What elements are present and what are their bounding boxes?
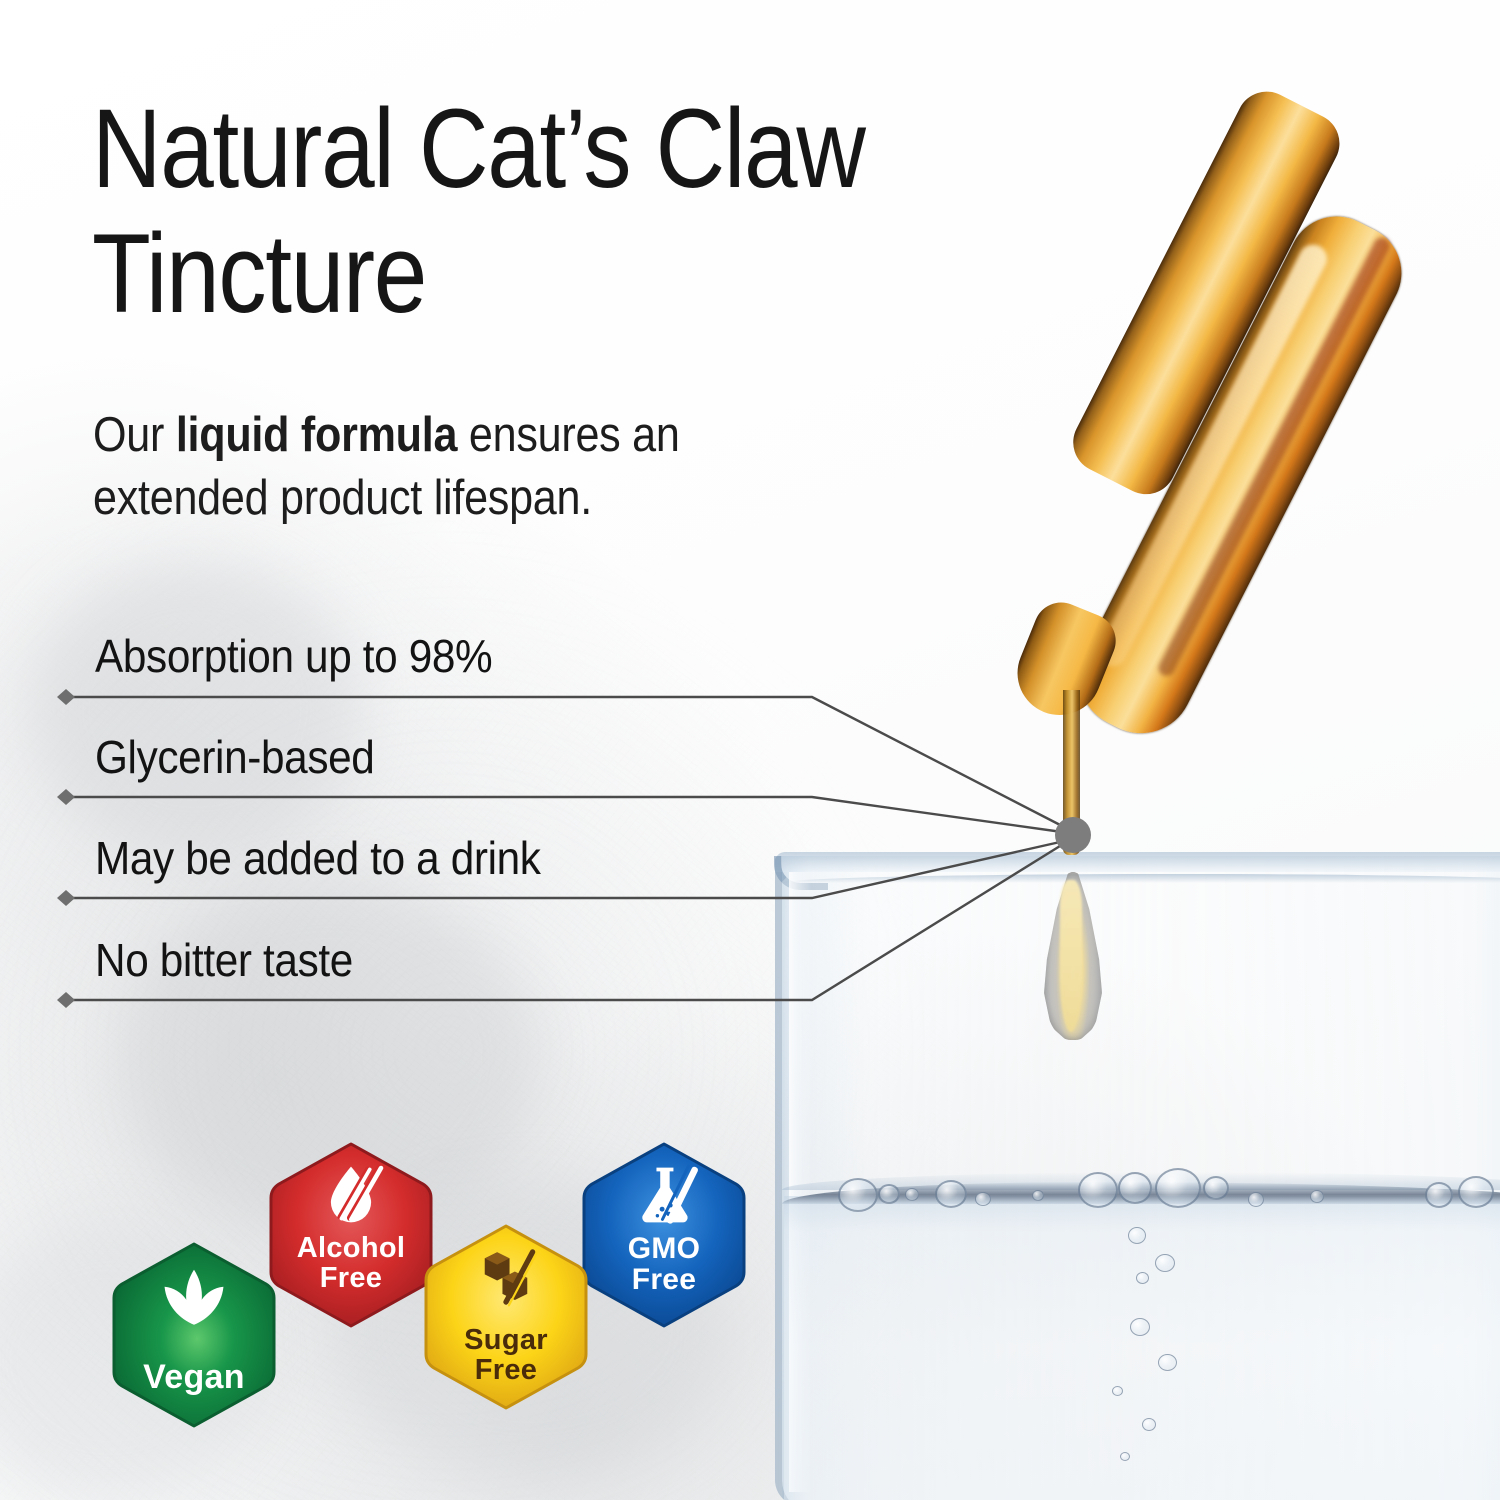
product-infographic: Natural Cat’s Claw Tincture Our liquid f…: [0, 0, 1500, 1500]
badge-gmo-free: GMO Free: [578, 1140, 750, 1330]
badge-gmo-free-caption: GMO Free: [578, 1234, 750, 1295]
badge-gmo-free-line1: GMO: [578, 1234, 750, 1265]
leaves-icon: [151, 1264, 237, 1340]
badge-alcohol-free-line2: Free: [265, 1264, 437, 1294]
flask-slash-icon: [626, 1162, 702, 1228]
badge-sugar-free-caption: Sugar Free: [420, 1326, 592, 1385]
badge-alcohol-free-caption: Alcohol Free: [265, 1234, 437, 1293]
badge-gmo-free-line2: Free: [578, 1265, 750, 1296]
badge-sugar-free-line1: Sugar: [420, 1326, 592, 1356]
droplet-slash-icon: [314, 1162, 388, 1226]
badge-alcohol-free: Alcohol Free: [265, 1140, 437, 1330]
sugar-cubes-slash-icon: [470, 1246, 542, 1308]
badge-sugar-free: Sugar Free: [420, 1222, 592, 1412]
certification-badges: GMO Free: [0, 0, 1500, 1500]
badge-vegan-caption: Vegan: [108, 1360, 280, 1395]
badge-vegan: Vegan: [108, 1240, 280, 1430]
badge-alcohol-free-line1: Alcohol: [265, 1234, 437, 1264]
badge-sugar-free-line2: Free: [420, 1356, 592, 1386]
badge-vegan-line1: Vegan: [108, 1360, 280, 1395]
